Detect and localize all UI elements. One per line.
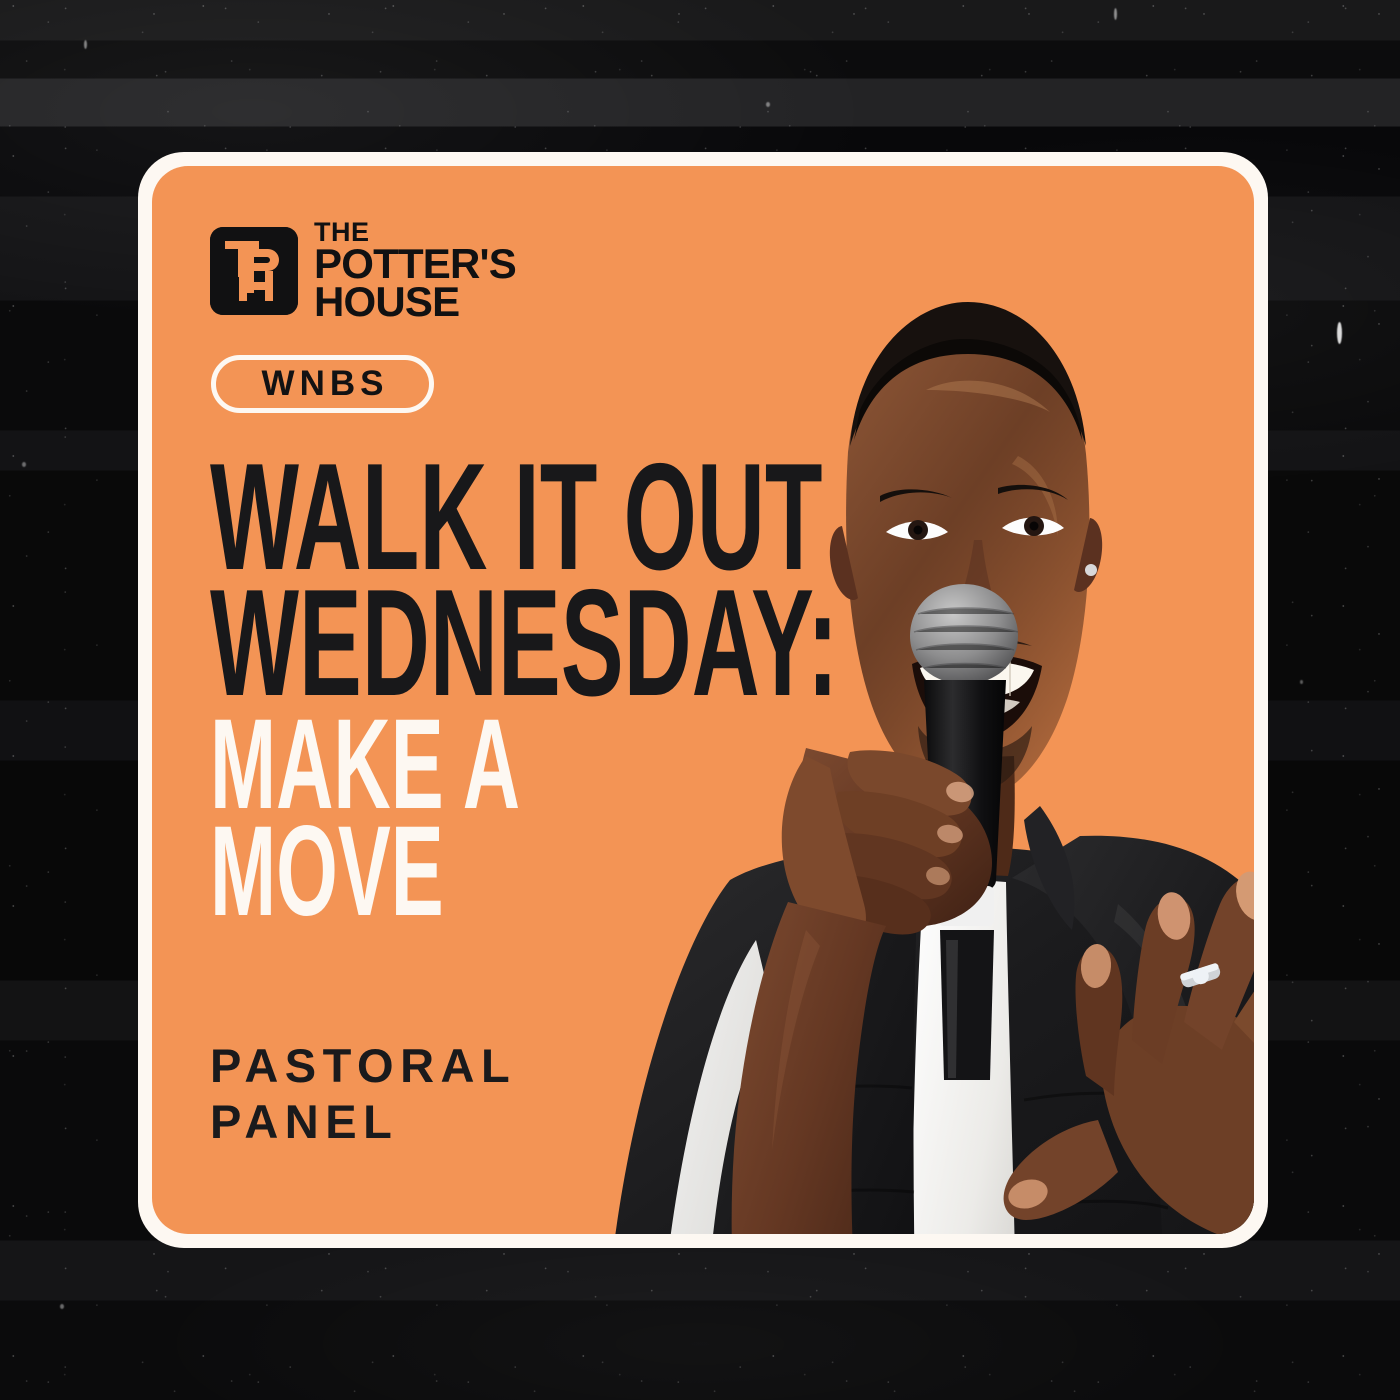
podcast-cover-artwork: THE POTTER'S HOUSE WNBS WALK IT OUT WEDN…: [0, 0, 1400, 1400]
background-speckle: [84, 40, 87, 49]
background-speckle: [22, 462, 26, 467]
brand-lockup: THE POTTER'S HOUSE: [210, 220, 516, 322]
wnbs-badge: WNBS: [211, 355, 434, 413]
subtitle-line-2: PANEL: [210, 1094, 516, 1150]
wnbs-badge-label: WNBS: [257, 364, 389, 404]
episode-title: WALK IT OUT WEDNESDAY: MAKE A MOVE: [210, 448, 680, 931]
background-speckle: [60, 1304, 64, 1309]
episode-subtitle: PASTORAL PANEL: [210, 1038, 516, 1151]
background-speckle: [766, 102, 770, 107]
potters-house-wordmark: THE POTTER'S HOUSE: [314, 220, 516, 322]
background-speckle: [1114, 8, 1117, 20]
subtitle-line-1: PASTORAL: [210, 1038, 516, 1094]
potters-house-logo-icon: [210, 227, 298, 315]
wordmark-line-house: HOUSE: [314, 283, 516, 322]
title-line-4: MOVE: [210, 813, 501, 931]
